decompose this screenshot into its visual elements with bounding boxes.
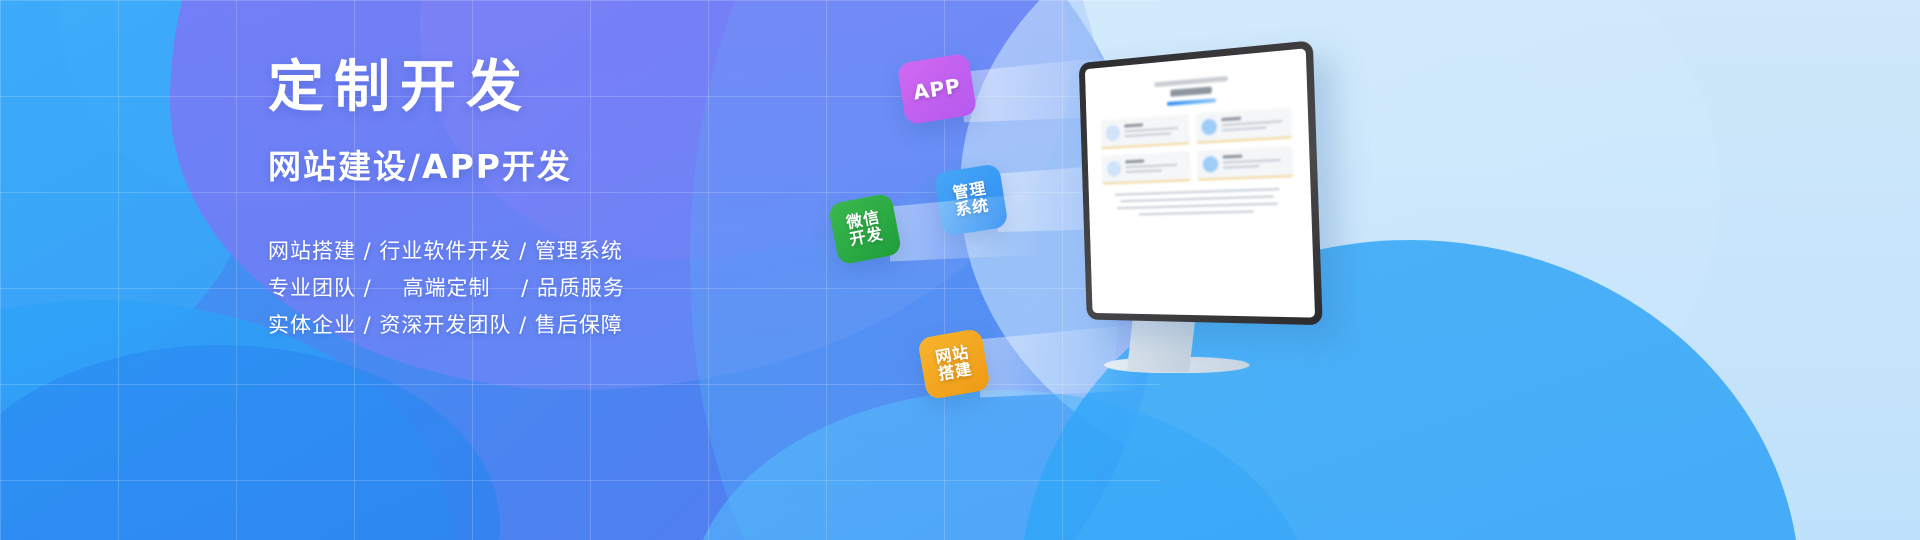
banner-subtitle: 网站建设/APP开发 [268, 150, 828, 183]
preview-feature-grid [1100, 107, 1293, 184]
preview-feature-text [1221, 114, 1286, 134]
preview-underline [1167, 98, 1216, 106]
preview-feature-icon [1202, 156, 1218, 173]
description-line-2: 专业团队 / 高端定制 / 品质服务 [268, 272, 828, 305]
preview-feature-icon [1201, 118, 1217, 135]
preview-text-line [1124, 132, 1171, 137]
preview-feature-card [1195, 107, 1292, 144]
preview-feature-icon [1107, 161, 1122, 177]
service-card-app[interactable]: APP [897, 53, 978, 125]
description-line-1: 网站搭建 / 行业软件开发 / 管理系统 [268, 235, 828, 268]
preview-heading [1170, 86, 1212, 96]
preview-text-line [1126, 169, 1162, 173]
service-card-management-label-2: 系统 [954, 197, 990, 219]
preview-feature-text [1124, 121, 1183, 140]
preview-text-line [1222, 155, 1242, 159]
preview-feature-card [1196, 146, 1293, 181]
preview-text-line [1115, 188, 1279, 196]
service-card-website-label-2: 搭建 [937, 361, 973, 383]
preview-text-line [1221, 126, 1266, 131]
preview-text-line [1222, 159, 1280, 164]
preview-paragraph [1103, 187, 1295, 216]
preview-text-line [1223, 165, 1260, 169]
preview-text-line [1121, 195, 1274, 202]
description-line-3: 实体企业 / 资深开发团队 / 售后保障 [268, 309, 828, 342]
preview-text-line [1125, 160, 1144, 164]
monitor-illustration [1070, 52, 1360, 382]
service-card-app-label: APP [912, 75, 962, 103]
monitor-frame [1079, 40, 1323, 325]
preview-feature-card [1100, 114, 1189, 149]
preview-eyebrow [1154, 76, 1228, 87]
preview-feature-card [1101, 151, 1190, 184]
banner-copy: 定制开发 网站建设/APP开发 网站搭建 / 行业软件开发 / 管理系统 专业团… [268, 60, 828, 346]
banner-description: 网站搭建 / 行业软件开发 / 管理系统 专业团队 / 高端定制 / 品质服务 … [268, 235, 828, 342]
service-card-website[interactable]: 网站 搭建 [917, 328, 991, 400]
monitor-screen [1085, 48, 1315, 317]
page-title: 定制开发 [268, 60, 828, 116]
service-card-wechat-label-2: 开发 [848, 226, 885, 249]
preview-text-line [1221, 117, 1241, 121]
preview-text-line [1221, 120, 1282, 126]
preview-feature-text [1125, 157, 1184, 175]
preview-feature-text [1222, 152, 1287, 171]
website-preview [1085, 48, 1315, 317]
preview-text-line [1139, 210, 1254, 215]
preview-text-line [1117, 203, 1278, 210]
preview-text-line [1124, 123, 1143, 127]
service-card-management[interactable]: 管理 系统 [933, 163, 1008, 237]
promo-banner: 定制开发 网站建设/APP开发 网站搭建 / 行业软件开发 / 管理系统 专业团… [0, 0, 1920, 540]
preview-text-line [1125, 164, 1177, 168]
preview-feature-icon [1106, 125, 1121, 141]
service-card-wechat[interactable]: 微信 开发 [828, 192, 903, 265]
